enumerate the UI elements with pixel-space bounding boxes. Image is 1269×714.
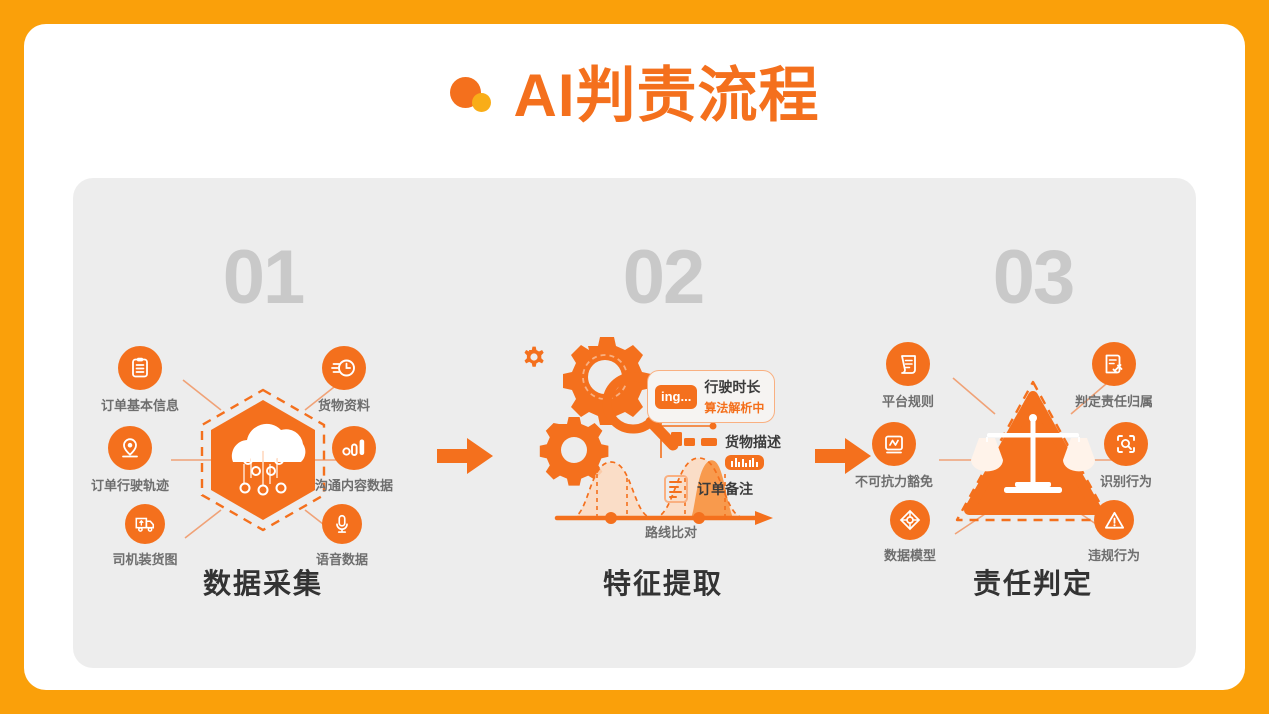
arrow-stage1-to-stage2 xyxy=(437,436,493,476)
node-cargo-data[interactable]: 货物资料 xyxy=(289,346,399,414)
scan-search-icon xyxy=(1104,422,1148,466)
stage-liability-determination: 03 xyxy=(863,178,1203,668)
microphone-icon xyxy=(322,504,362,544)
node-communication-data[interactable]: 沟通内容数据 xyxy=(299,426,409,494)
node-voice-data[interactable]: 语音数据 xyxy=(287,504,397,568)
node-label: 订单基本信息 xyxy=(101,395,179,414)
document-lines-icon xyxy=(663,474,689,504)
node-label: 判定责任归属 xyxy=(1075,391,1153,410)
callout-travel-duration[interactable]: ing... 行驶时长 算法解析中 xyxy=(647,370,775,423)
node-violation-behavior[interactable]: 违规行为 xyxy=(1059,500,1169,564)
yellow-dot-icon xyxy=(472,93,491,112)
gear-small-icon xyxy=(525,347,544,367)
clock-icon xyxy=(322,346,366,390)
stage-number-02: 02 xyxy=(493,240,833,316)
processing-badge: ing... xyxy=(655,385,697,409)
model-node-icon xyxy=(890,500,930,540)
scroll-icon xyxy=(886,342,930,386)
callout-cargo-description[interactable]: 货物描述 xyxy=(725,432,781,472)
bar-chart-icon xyxy=(332,426,376,470)
diagram-panel: 01 xyxy=(73,178,1196,668)
node-order-route[interactable]: 订单行驶轨迹 xyxy=(75,426,185,494)
gavel-document-icon xyxy=(1092,342,1136,386)
white-card: AI判责流程 01 xyxy=(24,24,1245,690)
connector-dot xyxy=(710,423,717,430)
page-title-row: AI判责流程 xyxy=(24,66,1245,126)
wave-label-route-compare: 路线比对 xyxy=(581,522,761,541)
stage-title-03: 责任判定 xyxy=(863,562,1203,602)
node-platform-rules[interactable]: 平台规则 xyxy=(853,342,963,410)
page-title: AI判责流程 xyxy=(514,66,820,126)
node-label: 订单行驶轨迹 xyxy=(91,475,169,494)
node-label: 沟通内容数据 xyxy=(315,475,393,494)
warning-triangle-icon xyxy=(1094,500,1134,540)
map-pin-icon xyxy=(108,426,152,470)
node-label: 平台规则 xyxy=(882,391,934,410)
node-data-model[interactable]: 数据模型 xyxy=(855,500,965,564)
node-label: 货物资料 xyxy=(318,395,370,414)
stage-title-02: 特征提取 xyxy=(493,562,833,602)
callout-title: 行驶时长 xyxy=(704,377,764,397)
callout-title: 货物描述 xyxy=(725,432,781,452)
stage-title-01: 数据采集 xyxy=(93,562,433,602)
truck-icon xyxy=(125,504,165,544)
node-liability-attribution[interactable]: 判定责任归属 xyxy=(1059,342,1169,410)
chart-frame-icon xyxy=(872,422,916,466)
callout-title: 订单备注 xyxy=(697,479,753,499)
mini-bars-icon xyxy=(725,455,764,470)
clipboard-icon xyxy=(118,346,162,390)
node-order-basic-info[interactable]: 订单基本信息 xyxy=(85,346,195,414)
callout-order-remark[interactable]: 订单备注 xyxy=(663,474,753,504)
node-label: 不可抗力豁免 xyxy=(855,471,933,490)
stage-feature-extraction: 02 xyxy=(493,178,833,668)
stage-data-collection: 01 xyxy=(93,178,433,668)
node-behavior-recognition[interactable]: 识别行为 xyxy=(1071,422,1181,490)
stage-number-01: 01 xyxy=(93,240,433,316)
node-driver-loading-photo[interactable]: 司机装货图 xyxy=(90,504,200,568)
node-label: 识别行为 xyxy=(1100,471,1152,490)
title-dots xyxy=(450,73,496,119)
node-force-majeure-exemption[interactable]: 不可抗力豁免 xyxy=(839,422,949,490)
callout-subtitle: 算法解析中 xyxy=(704,399,764,416)
bar-blocks-icon xyxy=(671,432,717,446)
stage-number-03: 03 xyxy=(863,240,1203,316)
orange-frame: AI判责流程 01 xyxy=(0,0,1269,714)
